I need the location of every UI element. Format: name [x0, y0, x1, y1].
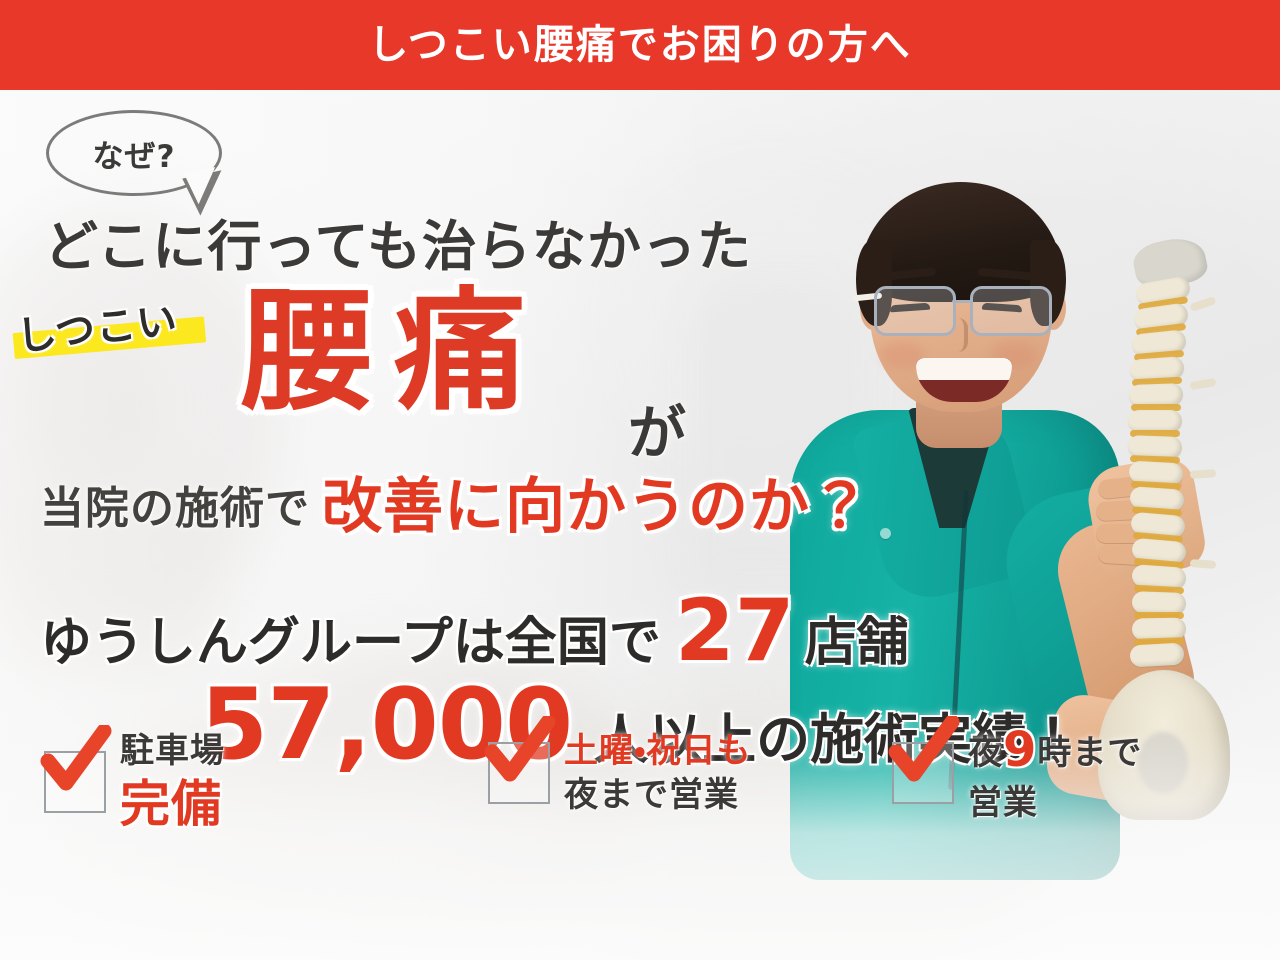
badge-text-group: 夜9時まで 営業 — [968, 724, 1142, 822]
speech-bubble-tail-inner — [184, 167, 222, 206]
top-banner: しつこい腰痛でお困りの方へ — [0, 0, 1280, 90]
group-stat-line: ゆうしんグループは全国で 27 店舗 — [40, 588, 909, 675]
badge-top-line: 土曜・祝日も — [564, 732, 752, 770]
badge-top-line: 夜9時まで — [968, 724, 1142, 778]
badge-bottom-line: 夜まで営業 — [564, 776, 752, 814]
check-icon — [40, 725, 112, 797]
badge-weekend-hours: 土曜・祝日も 夜まで営業 — [488, 732, 752, 814]
badge-text-group: 土曜・祝日も 夜まで営業 — [564, 732, 752, 814]
hero-landing-page: しつこい腰痛でお困りの方へ — [0, 0, 1280, 960]
marker-word: しつこい — [13, 288, 180, 363]
checkbox[interactable] — [488, 742, 550, 804]
badge-bottom-line: 営業 — [968, 784, 1142, 822]
headline-line-1: どこに行っても治らなかった — [44, 202, 752, 281]
speech-bubble-text: なぜ? — [93, 131, 176, 176]
marker-word-group: しつこい — [13, 288, 180, 363]
subheadline-red: 改善に向かうのか？ — [322, 458, 871, 545]
check-icon — [484, 716, 556, 788]
group-stat-prefix: ゆうしんグループは全国で — [40, 600, 661, 675]
banner-headline: しつこい腰痛でお困りの方へ — [368, 25, 912, 65]
badge-night-hours: 夜9時まで 営業 — [892, 724, 1142, 822]
checkbox[interactable] — [892, 742, 954, 804]
store-count-number: 27 — [675, 588, 795, 674]
badge-bottom-line: 完備 — [120, 776, 225, 832]
badge-top-prefix: 夜 — [968, 733, 1003, 773]
store-count-unit: 店舗 — [805, 600, 909, 675]
badge-text-group: 駐車場 完備 — [120, 732, 225, 832]
badge-parking: 駐車場 完備 — [44, 732, 225, 832]
badge-top-suffix: 時まで — [1037, 733, 1142, 773]
badge-hour-number: 9 — [1003, 722, 1037, 778]
checkbox[interactable] — [44, 751, 106, 813]
check-icon — [888, 716, 960, 788]
headline-big-word: 腰痛 — [240, 286, 548, 418]
subheadline-lead: 当院の施術で — [40, 472, 310, 536]
feature-badges: 駐車場 完備 土曜・祝日も 夜まで営業 — [0, 718, 1280, 870]
badge-top-line: 駐車場 — [120, 732, 225, 770]
